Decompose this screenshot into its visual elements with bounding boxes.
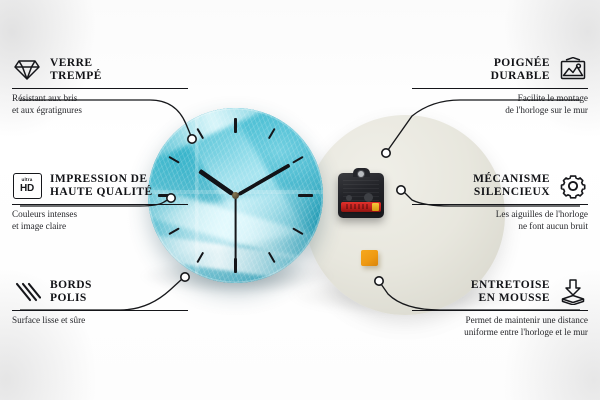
feature-title: VERRE TREMPÉ <box>50 57 102 84</box>
feature-header: MÉCANISME SILENCIEUX <box>412 172 588 200</box>
ultra-hd-icon: ultra HD <box>12 172 42 200</box>
polished-edges-icon <box>12 278 42 306</box>
feature-description: Facilite le montage de l'horloge sur le … <box>412 93 588 116</box>
hd-badge-big-text: HD <box>20 184 34 194</box>
feature-divider <box>412 310 588 311</box>
infographic-canvas: VERRE TREMPÉ Résistant aux bris et aux é… <box>0 0 600 400</box>
movement-shaft-icon <box>358 171 364 177</box>
clock-movement <box>338 173 384 218</box>
feature-description: Permet de maintenir une distance uniform… <box>412 315 588 338</box>
movement-dial-2 <box>364 193 373 202</box>
feature-divider <box>412 204 588 205</box>
feature-entretoise-en-mousse[interactable]: ENTRETOISE EN MOUSSE Permet de maintenir… <box>412 278 588 338</box>
battery-label <box>346 204 368 209</box>
feature-title: MÉCANISME SILENCIEUX <box>473 173 550 200</box>
foam-spacer-icon <box>558 278 588 306</box>
feature-description: Surface lisse et sûre <box>12 315 188 326</box>
feature-header: BORDS POLIS <box>12 278 188 306</box>
feature-divider <box>12 310 188 311</box>
feature-header: ENTRETOISE EN MOUSSE <box>412 278 588 306</box>
gear-icon <box>558 172 588 200</box>
diamond-icon <box>12 56 42 84</box>
feature-title: ENTRETOISE EN MOUSSE <box>471 279 550 306</box>
battery-positive-terminal <box>372 203 379 211</box>
feature-divider <box>12 204 188 205</box>
feature-description: Résistant aux bris et aux égratignures <box>12 93 188 116</box>
movement-dial-1 <box>346 195 352 201</box>
feature-mecanisme-silencieux[interactable]: MÉCANISME SILENCIEUX Les aiguilles de l'… <box>412 172 588 232</box>
feature-header: POIGNÉE DURABLE <box>412 56 588 84</box>
feature-title: POIGNÉE DURABLE <box>491 57 550 84</box>
feature-verre-trempe[interactable]: VERRE TREMPÉ Résistant aux bris et aux é… <box>12 56 188 116</box>
feature-description: Les aiguilles de l'horloge ne font aucun… <box>412 209 588 232</box>
feature-description: Couleurs intenses et image claire <box>12 209 188 232</box>
hd-badge: ultra HD <box>13 173 42 199</box>
feature-divider <box>412 88 588 89</box>
feature-title: BORDS POLIS <box>50 279 92 306</box>
feature-impression-haute-qualite[interactable]: ultra HD IMPRESSION DE HAUTE QUALITÉ Cou… <box>12 172 188 232</box>
feature-header: ultra HD IMPRESSION DE HAUTE QUALITÉ <box>12 172 188 200</box>
foam-spacer <box>361 250 378 266</box>
picture-hanger-icon <box>558 56 588 84</box>
aa-battery <box>341 202 381 212</box>
feature-poignee-durable[interactable]: POIGNÉE DURABLE Facilite le montage de l… <box>412 56 588 116</box>
feature-bords-polis[interactable]: BORDS POLIS Surface lisse et sûre <box>12 278 188 327</box>
feature-header: VERRE TREMPÉ <box>12 56 188 84</box>
feature-divider <box>12 88 188 89</box>
feature-title: IMPRESSION DE HAUTE QUALITÉ <box>50 173 153 200</box>
